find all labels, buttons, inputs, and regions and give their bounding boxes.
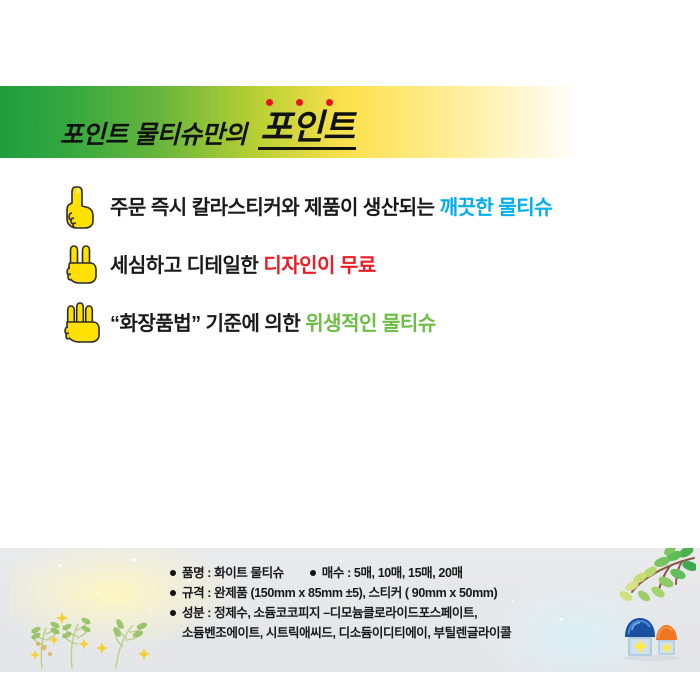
hand-three-fingers-icon	[58, 297, 102, 345]
feature-list: 주문 즉시 칼라스티커와 제품이 생산되는 깨끗한 물티슈 세심하고 디테일한	[58, 176, 678, 350]
spec-label-name: 품명 : 화이트 물티슈	[182, 563, 284, 583]
spec-line: 규격 : 완제품 (150mm x 85mm ±5), 스티커 ( 90mm x…	[170, 583, 640, 603]
spec-label-ingredients-cont: 소듐벤조에이트, 시트릭애씨드, 디소듐이디티에이, 부틸렌글라이콜	[182, 623, 511, 643]
spec-line-continuation: 소듐벤조에이트, 시트릭애씨드, 디소듐이디티에이, 부틸렌글라이콜	[182, 623, 640, 643]
spec-label-ingredients: 성분 : 정제수, 소듐코코피지 –디모늄클로라이드포스페이트,	[182, 603, 477, 623]
list-item-text-highlight: 깨끗한 물티슈	[440, 197, 552, 219]
flower-sprigs-icon	[20, 600, 180, 672]
list-item-text-highlight: 디자인이 무료	[263, 255, 375, 277]
bullet-dot-icon	[170, 590, 176, 596]
list-item: 세심하고 디테일한 디자인이 무료	[58, 234, 678, 292]
emphasis-dot-icon	[326, 99, 333, 106]
list-item-text-plain: “화장품법” 기준에 의한	[110, 313, 300, 335]
list-item-label: 세심하고 디테일한 디자인이 무료	[110, 249, 376, 278]
hand-one-finger-icon	[58, 181, 102, 229]
page-title-emphasis-wrap: 포인트	[258, 110, 356, 152]
list-item-text-plain: 세심하고 디테일한	[110, 255, 258, 277]
list-item-label: “화장품법” 기준에 의한 위생적인 물티슈	[110, 307, 436, 336]
list-item: “화장품법” 기준에 의한 위생적인 물티슈	[58, 292, 678, 350]
emphasis-dot-icon	[296, 99, 303, 106]
product-spec-list: 품명 : 화이트 물티슈 매수 : 5매, 10매, 15매, 20매 규격 :…	[170, 563, 640, 643]
spec-label-size: 규격 : 완제품 (150mm x 85mm ±5), 스티커 ( 90mm x…	[182, 583, 497, 603]
spec-label-count: 매수 : 5매, 10매, 15매, 20매	[322, 563, 463, 583]
spec-line: 품명 : 화이트 물티슈 매수 : 5매, 10매, 15매, 20매	[170, 563, 640, 583]
list-item: 주문 즉시 칼라스티커와 제품이 생산되는 깨끗한 물티슈	[58, 176, 678, 234]
emphasis-dot-icon	[266, 99, 273, 106]
page-title: 포인트 물티슈만의 포인트	[60, 96, 356, 152]
spec-line: 성분 : 정제수, 소듐코코피지 –디모늄클로라이드포스페이트,	[170, 603, 640, 623]
bullet-dot-icon	[310, 570, 316, 576]
list-item-text-highlight: 위생적인 물티슈	[305, 313, 435, 335]
bullet-dot-icon	[170, 610, 176, 616]
bullet-dot-icon	[170, 570, 176, 576]
list-item-text-plain: 주문 즉시 칼라스티커와 제품이 생산되는	[110, 197, 435, 219]
page-title-prefix: 포인트 물티슈만의	[60, 123, 246, 152]
slide-canvas: 포인트 물티슈만의 포인트	[0, 0, 700, 700]
hand-two-fingers-icon	[58, 239, 102, 287]
list-item-label: 주문 즉시 칼라스티커와 제품이 생산되는 깨끗한 물티슈	[110, 191, 552, 220]
page-title-emphasis: 포인트	[258, 110, 356, 150]
emphasis-dots	[266, 99, 364, 106]
